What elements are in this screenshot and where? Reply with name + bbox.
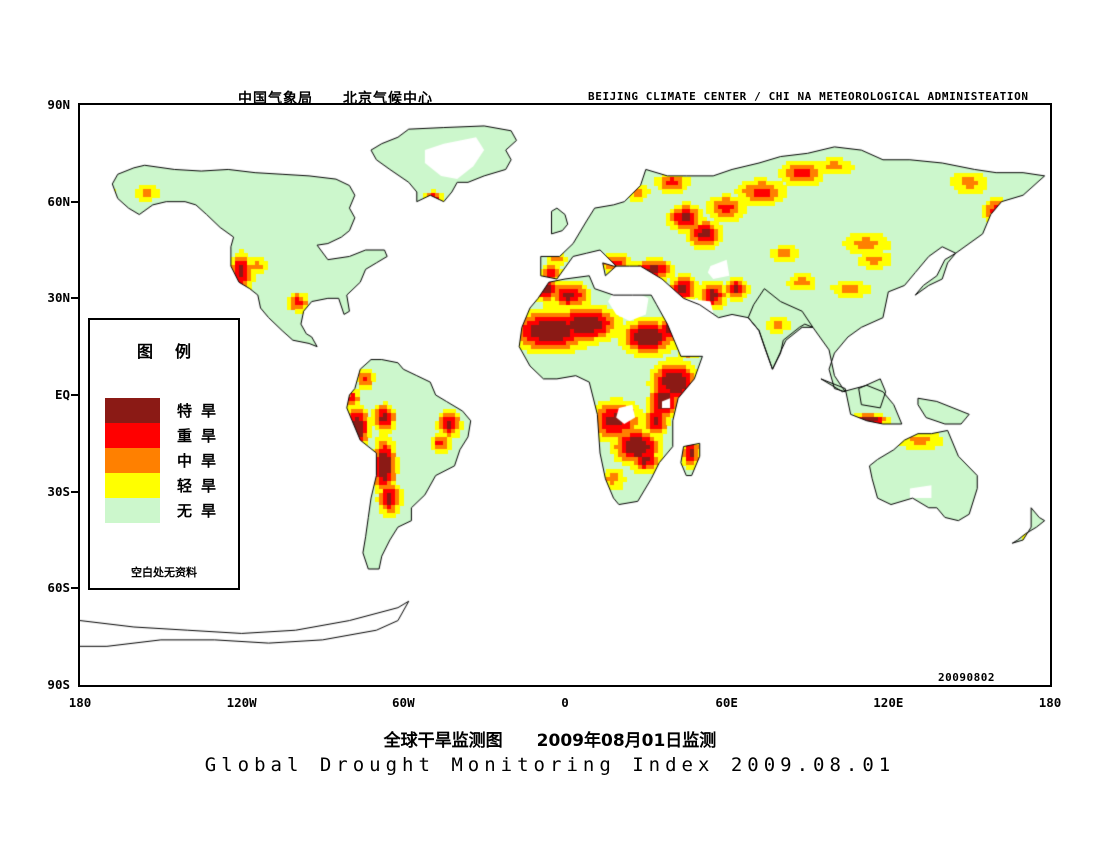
map-title-en: Global Drought Monitoring Index 2009.08.… xyxy=(0,754,1100,776)
y-axis-label-EQ: EQ xyxy=(0,387,70,402)
legend-label-extreme: 特旱 xyxy=(177,400,216,421)
y-axis-label-30S: 30S xyxy=(0,484,70,499)
y-axis-tick xyxy=(71,394,78,396)
map-title-cn: 全球干旱监测图 2009年08月01日监测 xyxy=(0,726,1100,751)
x-axis-label-120W: 120W xyxy=(218,695,266,710)
production-date-stamp: 20090802 xyxy=(938,671,995,684)
x-axis-label-120E: 120E xyxy=(864,695,912,710)
legend-swatch-light xyxy=(105,473,160,498)
legend-title: 图例 xyxy=(90,338,238,362)
y-axis-tick xyxy=(71,587,78,589)
x-axis-label-180: 180 xyxy=(1026,695,1074,710)
y-axis-label-90N: 90N xyxy=(0,97,70,112)
legend-label-moderate: 中旱 xyxy=(177,450,216,471)
x-axis-label-0: 0 xyxy=(541,695,589,710)
legend-box: 图例 特旱重旱中旱轻旱无旱 空白处无资料 xyxy=(88,318,240,590)
legend-label-light: 轻旱 xyxy=(177,475,216,496)
y-axis-label-90S: 90S xyxy=(0,677,70,692)
legend-swatch-extreme xyxy=(105,398,160,423)
x-axis-label-180: 180 xyxy=(56,695,104,710)
legend-swatch-severe xyxy=(105,423,160,448)
drought-map-page: 中国气象局 北京气候中心 BEIJING CLIMATE CENTER / CH… xyxy=(0,0,1100,850)
legend-label-severe: 重旱 xyxy=(177,425,216,446)
agency-header-en: BEIJING CLIMATE CENTER / CHI NA METEOROL… xyxy=(588,90,1029,103)
x-axis-label-60E: 60E xyxy=(703,695,751,710)
legend-label-none: 无旱 xyxy=(177,500,216,521)
y-axis-label-30N: 30N xyxy=(0,290,70,305)
y-axis-label-60N: 60N xyxy=(0,194,70,209)
legend-title-left: 图 xyxy=(137,342,153,361)
y-axis-tick xyxy=(71,201,78,203)
y-axis-label-60S: 60S xyxy=(0,580,70,595)
legend-title-right: 例 xyxy=(175,342,191,361)
legend-swatch-none xyxy=(105,498,160,523)
y-axis-tick xyxy=(71,491,78,493)
x-axis-label-60W: 60W xyxy=(379,695,427,710)
legend-swatch-moderate xyxy=(105,448,160,473)
legend-note: 空白处无资料 xyxy=(90,564,238,580)
y-axis-tick xyxy=(71,297,78,299)
